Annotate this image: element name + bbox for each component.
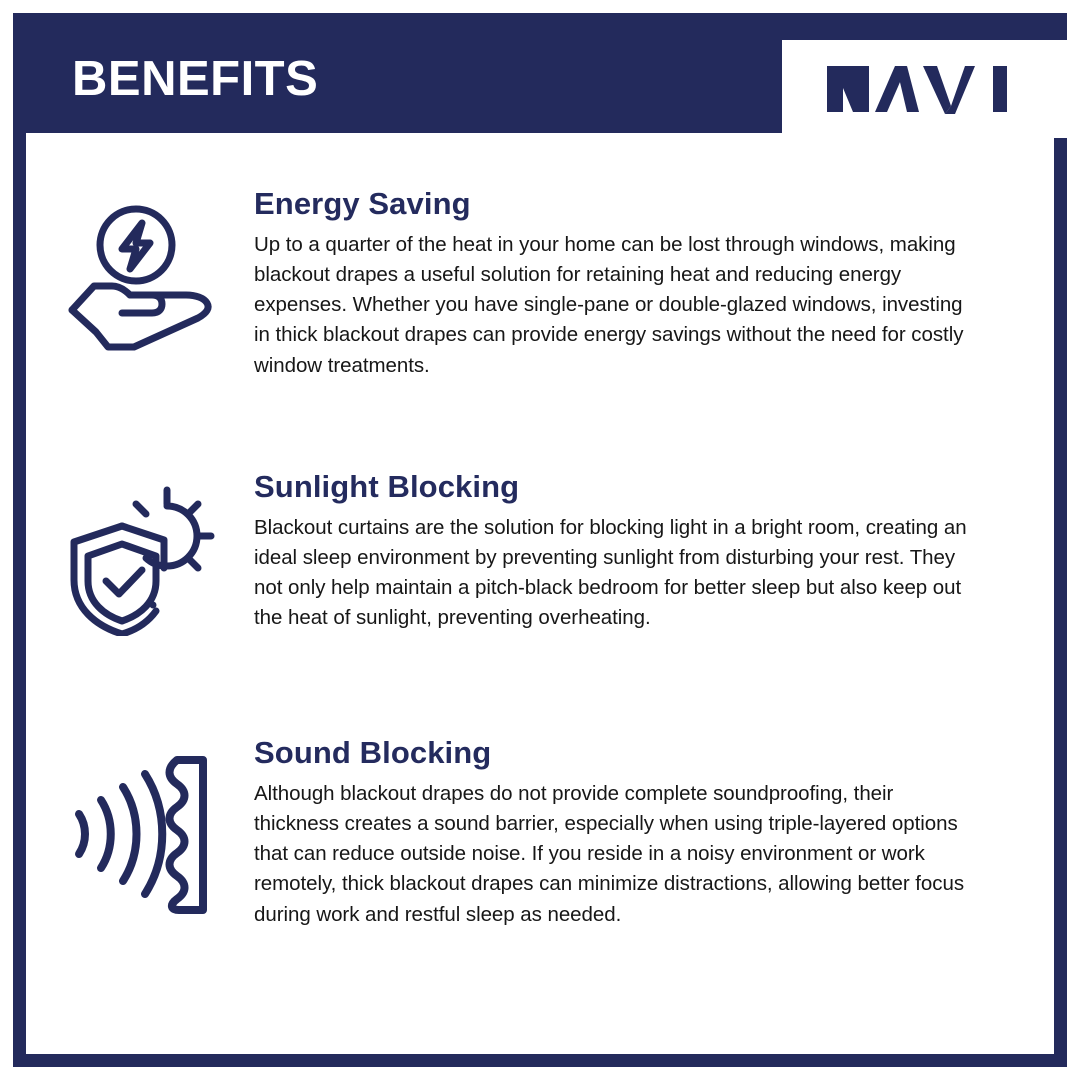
benefit-description: Blackout curtains are the solution for b… bbox=[254, 513, 969, 634]
logo-container bbox=[782, 40, 1067, 138]
benefit-text-cell: Sunlight Blocking Blackout curtains are … bbox=[254, 470, 996, 634]
benefit-title: Energy Saving bbox=[254, 187, 969, 221]
header-bar: BENEFITS bbox=[26, 26, 1054, 133]
benefit-item-sunlight-blocking: Sunlight Blocking Blackout curtains are … bbox=[26, 470, 1054, 636]
shield-check-sun-icon bbox=[64, 484, 216, 636]
benefit-item-energy-saving: Energy Saving Up to a quarter of the hea… bbox=[26, 187, 1054, 381]
benefit-item-sound-blocking: Sound Blocking Although blackout drapes … bbox=[26, 736, 1054, 930]
benefit-text-cell: Sound Blocking Although blackout drapes … bbox=[254, 736, 996, 930]
benefit-title: Sunlight Blocking bbox=[254, 470, 969, 504]
benefit-title: Sound Blocking bbox=[254, 736, 969, 770]
benefits-infographic: BENEFITS bbox=[0, 0, 1080, 1080]
benefit-icon-cell bbox=[26, 736, 254, 918]
navy-frame-border: BENEFITS bbox=[13, 13, 1067, 1067]
sound-waves-acoustic-panel-icon bbox=[67, 750, 213, 918]
benefit-description: Up to a quarter of the heat in your home… bbox=[254, 230, 969, 381]
benefits-list: Energy Saving Up to a quarter of the hea… bbox=[26, 133, 1054, 1054]
benefit-icon-cell bbox=[26, 187, 254, 351]
benefit-description: Although blackout drapes do not provide … bbox=[254, 779, 969, 930]
hand-holding-energy-bolt-icon bbox=[64, 201, 216, 351]
benefit-icon-cell bbox=[26, 470, 254, 636]
benefit-text-cell: Energy Saving Up to a quarter of the hea… bbox=[254, 187, 996, 381]
page-title: BENEFITS bbox=[72, 55, 318, 104]
navi-logo bbox=[817, 58, 1032, 120]
